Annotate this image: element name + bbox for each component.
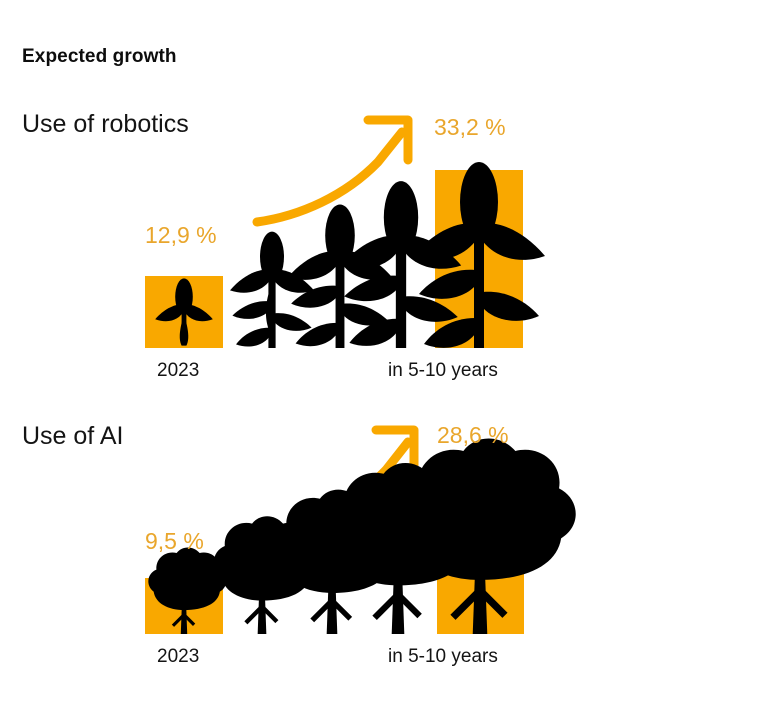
caption-ai-2023: 2023 bbox=[157, 646, 199, 668]
page-title: Expected growth bbox=[22, 46, 177, 68]
section-robotics: Use of robotics bbox=[0, 100, 768, 390]
caption-ai-future: in 5-10 years bbox=[388, 646, 498, 668]
corn-plant-row-robotics bbox=[0, 100, 768, 390]
value-label-robotics-2023: 12,9 % bbox=[145, 222, 217, 249]
caption-robotics-2023: 2023 bbox=[157, 360, 199, 382]
value-label-robotics-future: 33,2 % bbox=[434, 114, 506, 141]
section-ai: Use of AI bbox=[0, 412, 768, 702]
tree-icon bbox=[399, 438, 575, 634]
value-label-ai-future: 28,6 % bbox=[437, 422, 509, 449]
value-label-ai-2023: 9,5 % bbox=[145, 528, 204, 555]
corn-plant-icon bbox=[230, 232, 314, 348]
tree-row-ai bbox=[0, 412, 768, 702]
caption-robotics-future: in 5-10 years bbox=[388, 360, 498, 382]
corn-plant-icon bbox=[155, 278, 213, 348]
